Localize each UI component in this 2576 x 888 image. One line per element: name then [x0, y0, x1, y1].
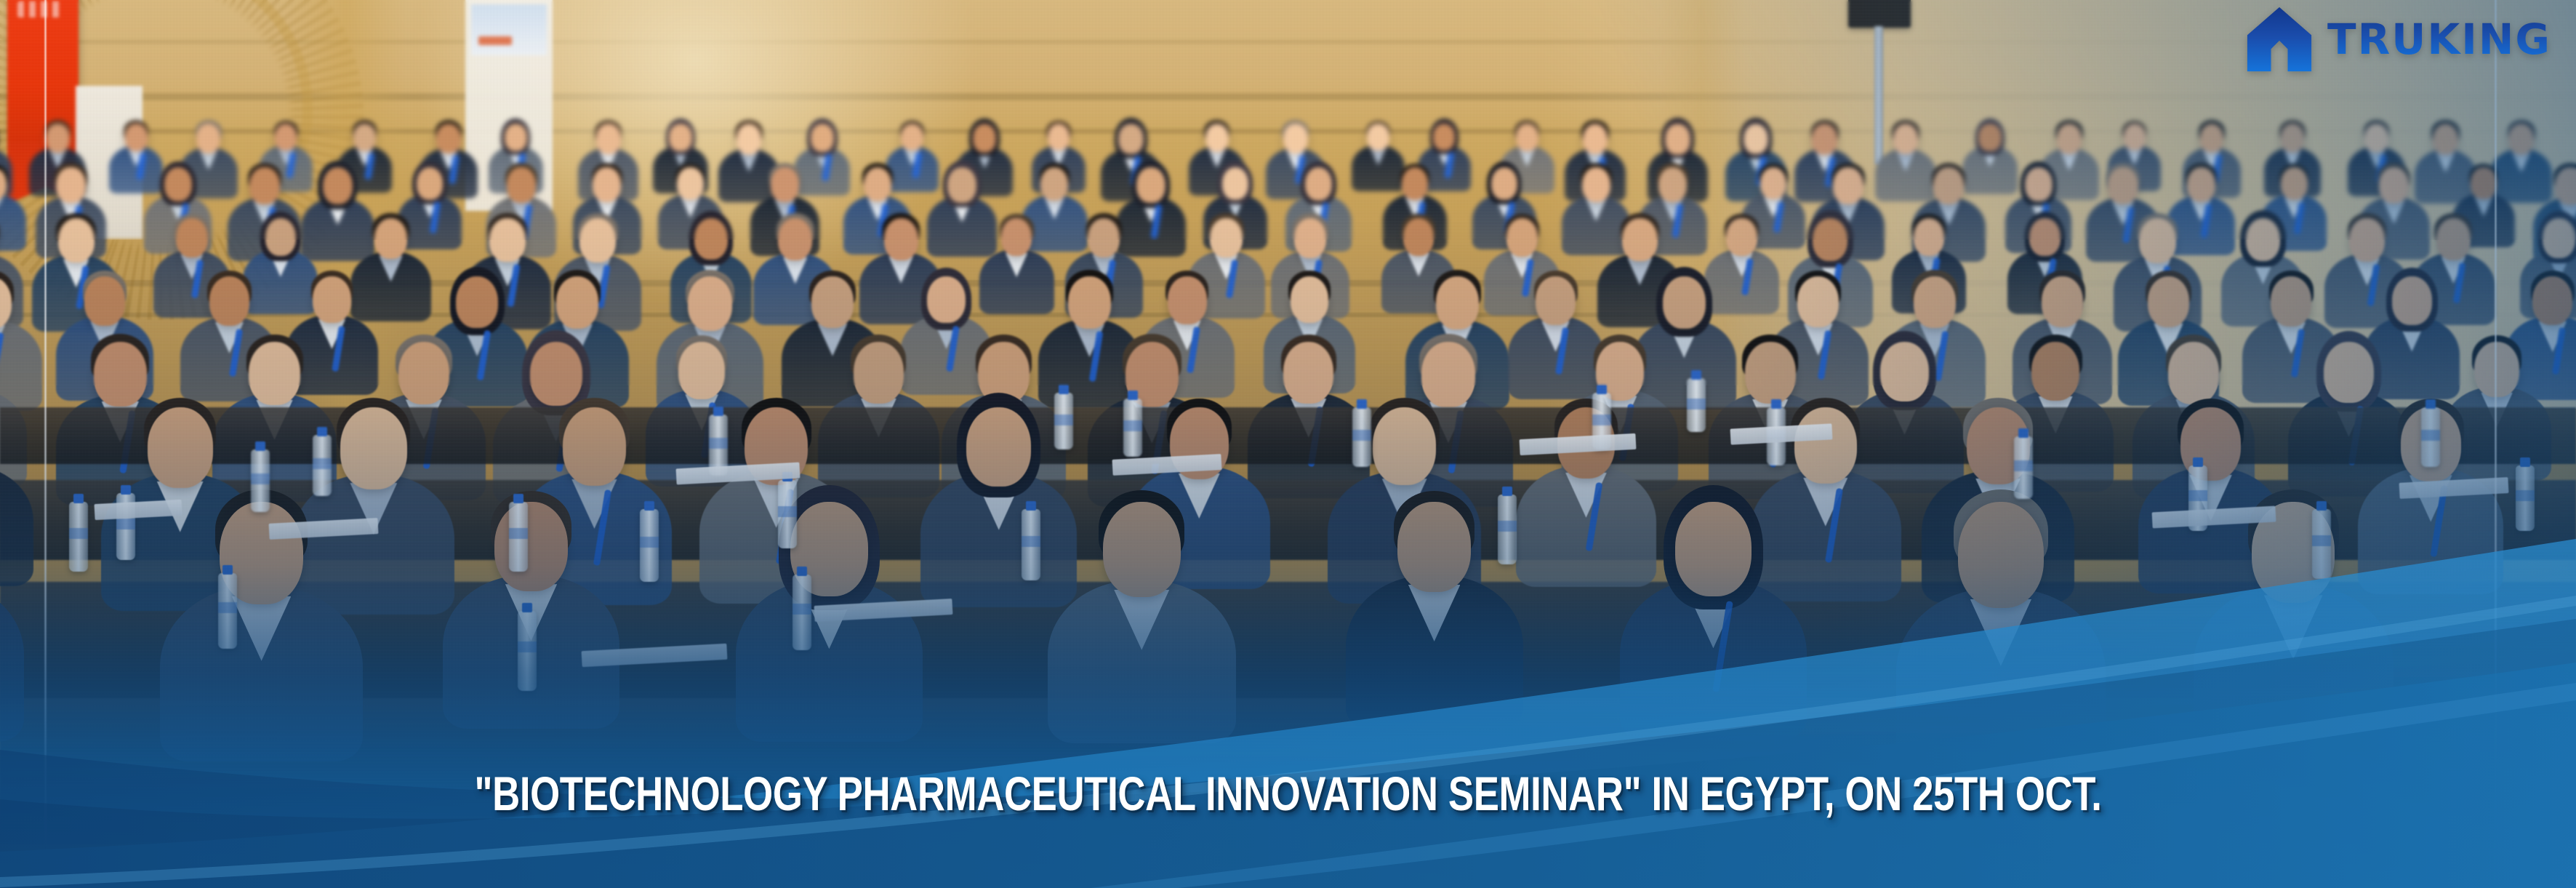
- photo-depth-blur-far: [0, 0, 2576, 240]
- water-bottle: [69, 502, 88, 572]
- water-bottle: [1123, 399, 1142, 457]
- event-banner: TRUKING "BIOTECHNOLOGY PHARMACEUTICAL IN…: [0, 0, 2576, 888]
- water-bottle: [640, 509, 659, 582]
- water-bottle: [2421, 407, 2440, 467]
- handout-paper: [582, 644, 728, 667]
- water-bottle: [2312, 509, 2331, 579]
- handout-paper: [269, 518, 379, 540]
- water-bottle: [218, 573, 237, 649]
- handout-paper: [1520, 433, 1637, 455]
- handout-paper: [1730, 423, 1833, 444]
- truking-wordmark: TRUKING: [2327, 18, 2551, 60]
- water-bottle: [251, 449, 270, 512]
- water-bottle: [1022, 509, 1040, 580]
- water-bottle: [1498, 495, 1517, 564]
- handout-paper: [814, 599, 953, 622]
- photo-depth-blur-mid: [0, 240, 2576, 385]
- handout-paper: [2399, 477, 2509, 499]
- handout-paper: [95, 500, 182, 520]
- water-bottle: [518, 611, 537, 691]
- water-bottle: [313, 435, 332, 496]
- water-bottle: [1352, 407, 1371, 467]
- truking-logo[interactable]: TRUKING: [2244, 6, 2551, 73]
- truking-pentagon-arrow-icon: [2244, 6, 2314, 73]
- water-bottle: [2014, 436, 2033, 499]
- water-bottle: [778, 480, 797, 548]
- water-bottle: [2516, 465, 2535, 531]
- water-bottle: [1054, 393, 1073, 449]
- water-bottle: [509, 502, 528, 572]
- seminar-photo: [0, 0, 2576, 888]
- water-bottle: [793, 575, 811, 650]
- handout-paper: [1112, 454, 1222, 476]
- water-bottle: [1687, 378, 1706, 432]
- handout-paper: [2152, 506, 2276, 529]
